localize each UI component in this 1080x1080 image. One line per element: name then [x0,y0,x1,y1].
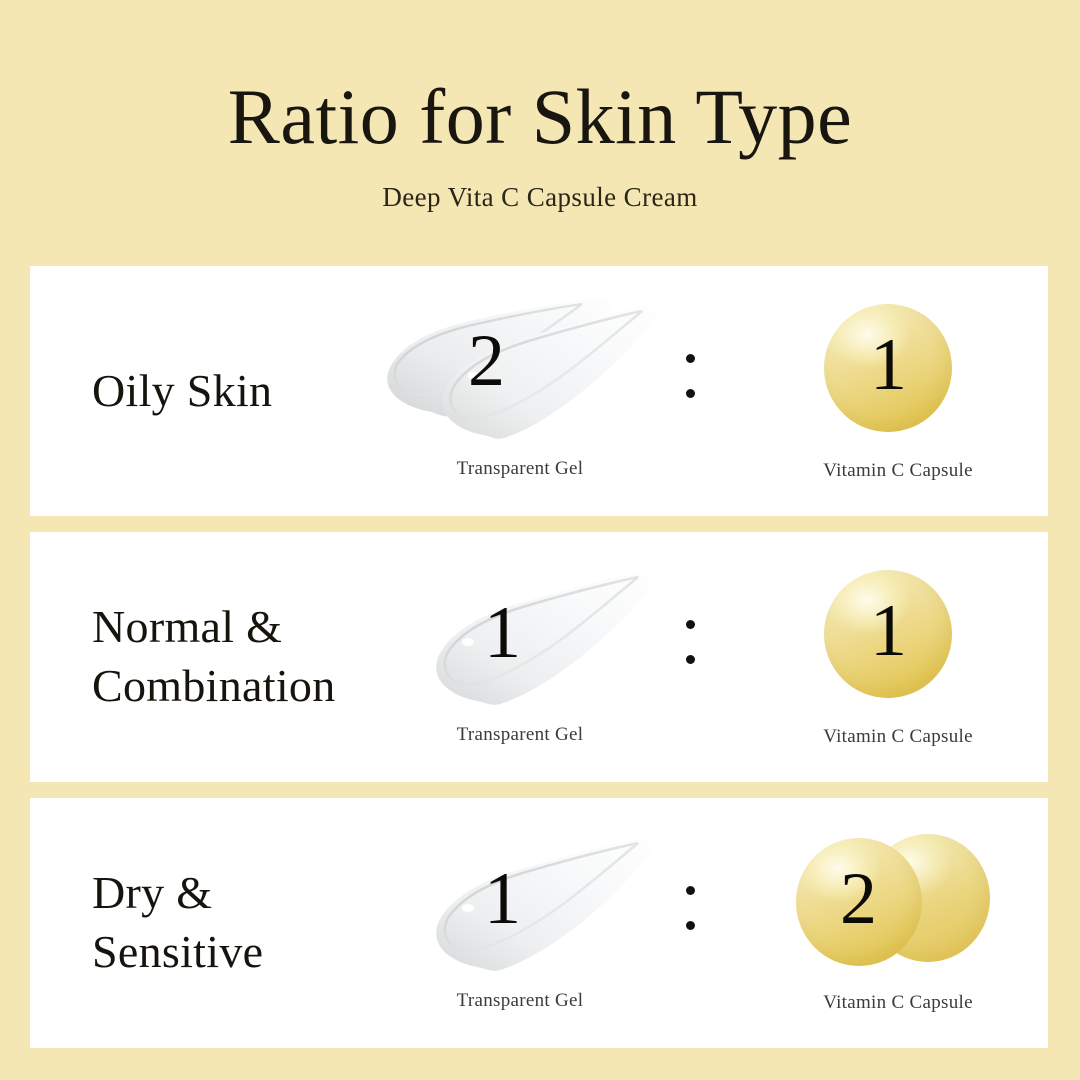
colon-dot-bottom [686,655,695,664]
gel-caption: Transparent Gel [457,724,584,746]
ratio-row-oily-skin[interactable]: Oily Skin [30,266,1048,516]
page-subtitle: Deep Vita C Capsule Cream [0,182,1080,213]
capsule-side: 1 Vitamin C Capsule [748,266,1048,482]
skin-type-label: Normal & Combination [30,598,356,716]
capsule-caption: Vitamin C Capsule [823,460,973,482]
capsule-side: 2 Vitamin C Capsule [748,798,1048,1014]
skin-type-label: Dry & Sensitive [30,864,356,982]
colon-dot-bottom [686,921,695,930]
colon-dot-top [686,886,695,895]
skin-type-line-1: Normal & [92,598,356,657]
gel-ratio-number: 2 [468,324,505,398]
capsule-caption: Vitamin C Capsule [823,726,973,748]
capsule-ratio-number: 1 [870,328,907,402]
ratio-separator [670,354,710,398]
gel-side: 2 Transparent Gel [370,266,670,480]
ratio-visual: 1 Transparent Gel 1 Vitamin C Capsule [356,532,1048,782]
colon-dot-top [686,620,695,629]
colon-dot-bottom [686,389,695,398]
gel-caption: Transparent Gel [457,458,584,480]
gel-visual: 1 [370,560,670,710]
capsule-ratio-number: 2 [840,862,877,936]
gel-swatch-icon [370,294,670,444]
capsule-icon [748,828,1048,978]
ratio-separator [670,886,710,930]
skin-type-line-1: Oily Skin [92,362,356,421]
capsule-ratio-number: 1 [870,594,907,668]
page-title: Ratio for Skin Type [0,78,1080,156]
colon-dot-top [686,354,695,363]
ratio-visual: 1 Transparent Gel 2 Vitamin C Capsule [356,798,1048,1048]
ratio-row-dry-sensitive[interactable]: Dry & Sensitive [30,798,1048,1048]
capsule-caption: Vitamin C Capsule [823,992,973,1014]
skin-type-line-2: Combination [92,657,356,716]
skin-type-label: Oily Skin [30,362,356,421]
ratio-row-normal-combination[interactable]: Normal & Combination [30,532,1048,782]
ratio-visual: 2 Transparent Gel 1 Vitamin C Capsule [356,266,1048,516]
gel-caption: Transparent Gel [457,990,584,1012]
skin-type-line-2: Sensitive [92,923,356,982]
skin-type-line-1: Dry & [92,864,356,923]
page-header: Ratio for Skin Type Deep Vita C Capsule … [0,0,1080,213]
gel-side: 1 Transparent Gel [370,798,670,1012]
gel-visual: 2 [370,294,670,444]
gel-visual: 1 [370,826,670,976]
capsule-visual: 1 [748,296,1048,446]
capsule-visual: 2 [748,828,1048,978]
gel-ratio-number: 1 [484,862,521,936]
ratio-card-list: Oily Skin [30,266,1048,1048]
capsule-side: 1 Vitamin C Capsule [748,532,1048,748]
ratio-separator [670,620,710,664]
gel-side: 1 Transparent Gel [370,532,670,746]
gel-ratio-number: 1 [484,596,521,670]
capsule-visual: 1 [748,562,1048,712]
